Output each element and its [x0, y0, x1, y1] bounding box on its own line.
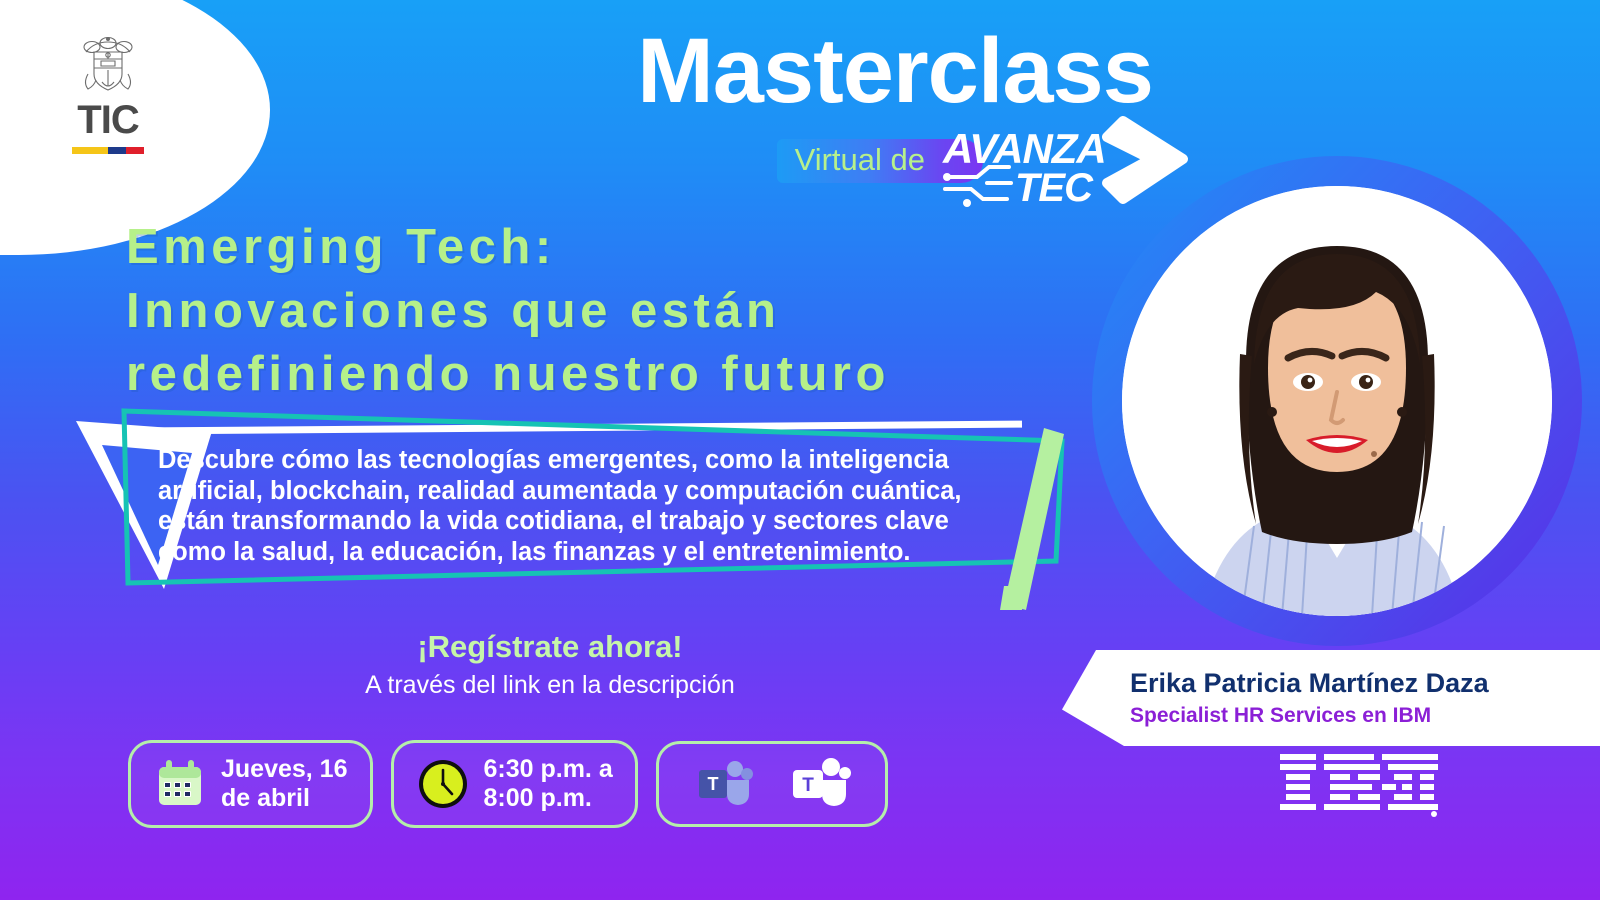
header-block: Masterclass Virtual de AVANZA TEC [595, 25, 1195, 207]
speaker-portrait [1122, 186, 1552, 616]
svg-text:T: T [802, 775, 814, 796]
colombia-coat-of-arms-icon [74, 30, 142, 102]
svg-text:T: T [707, 774, 718, 794]
time-pill: 6:30 p.m. a 8:00 p.m. [391, 740, 638, 828]
virtual-row: Virtual de AVANZA TEC [595, 115, 1195, 207]
speaker-card: Erika Patricia Martínez Daza Specialist … [1062, 650, 1600, 746]
ibm-logo [1278, 752, 1440, 818]
platform-pill: T T [656, 741, 888, 827]
time-text: 6:30 p.m. a 8:00 p.m. [484, 755, 613, 813]
date-pill: Jueves, 16 de abril [128, 740, 373, 828]
avatar [1122, 186, 1552, 616]
clock-icon [416, 757, 470, 811]
cta-block: ¡Regístrate ahora! A través del link en … [110, 628, 990, 701]
speaker-role: Specialist HR Services en IBM [1130, 703, 1600, 729]
svg-text:TEC: TEC [1015, 166, 1094, 207]
svg-text:AVANZA: AVANZA [942, 125, 1106, 172]
speaker-avatar-ring [1092, 156, 1582, 646]
microsoft-teams-icon: T [693, 756, 755, 812]
cta-subline: A través del link en la descripción [110, 670, 990, 701]
description-text: Descubre cómo las tecnologías emergentes… [158, 445, 1003, 567]
info-pills: Jueves, 16 de abril 6:30 p.m. a 8:00 p.m… [128, 740, 888, 828]
date-text: Jueves, 16 de abril [221, 755, 348, 813]
microsoft-teams-icon: T [789, 756, 851, 812]
title-line-1: Emerging Tech: [126, 216, 1026, 280]
colombia-flag-bar [72, 147, 144, 154]
tic-wordmark: TIC [77, 100, 138, 140]
speaker-name: Erika Patricia Martínez Daza [1130, 667, 1600, 699]
cta-headline: ¡Regístrate ahora! [110, 628, 990, 665]
masterclass-title: Emerging Tech: Innovaciones que están re… [126, 216, 1026, 407]
masterclass-poster: TIC Masterclass Virtual de AVANZA TEC [0, 0, 1600, 900]
avanza-tec-logo: AVANZA TEC [937, 115, 1195, 207]
title-line-3: redefiniendo nuestro futuro [126, 343, 1026, 407]
calendar-icon [153, 757, 207, 811]
event-type-title: Masterclass [595, 25, 1195, 119]
mintic-logo: TIC [48, 30, 168, 154]
title-line-2: Innovaciones que están [126, 280, 1026, 344]
